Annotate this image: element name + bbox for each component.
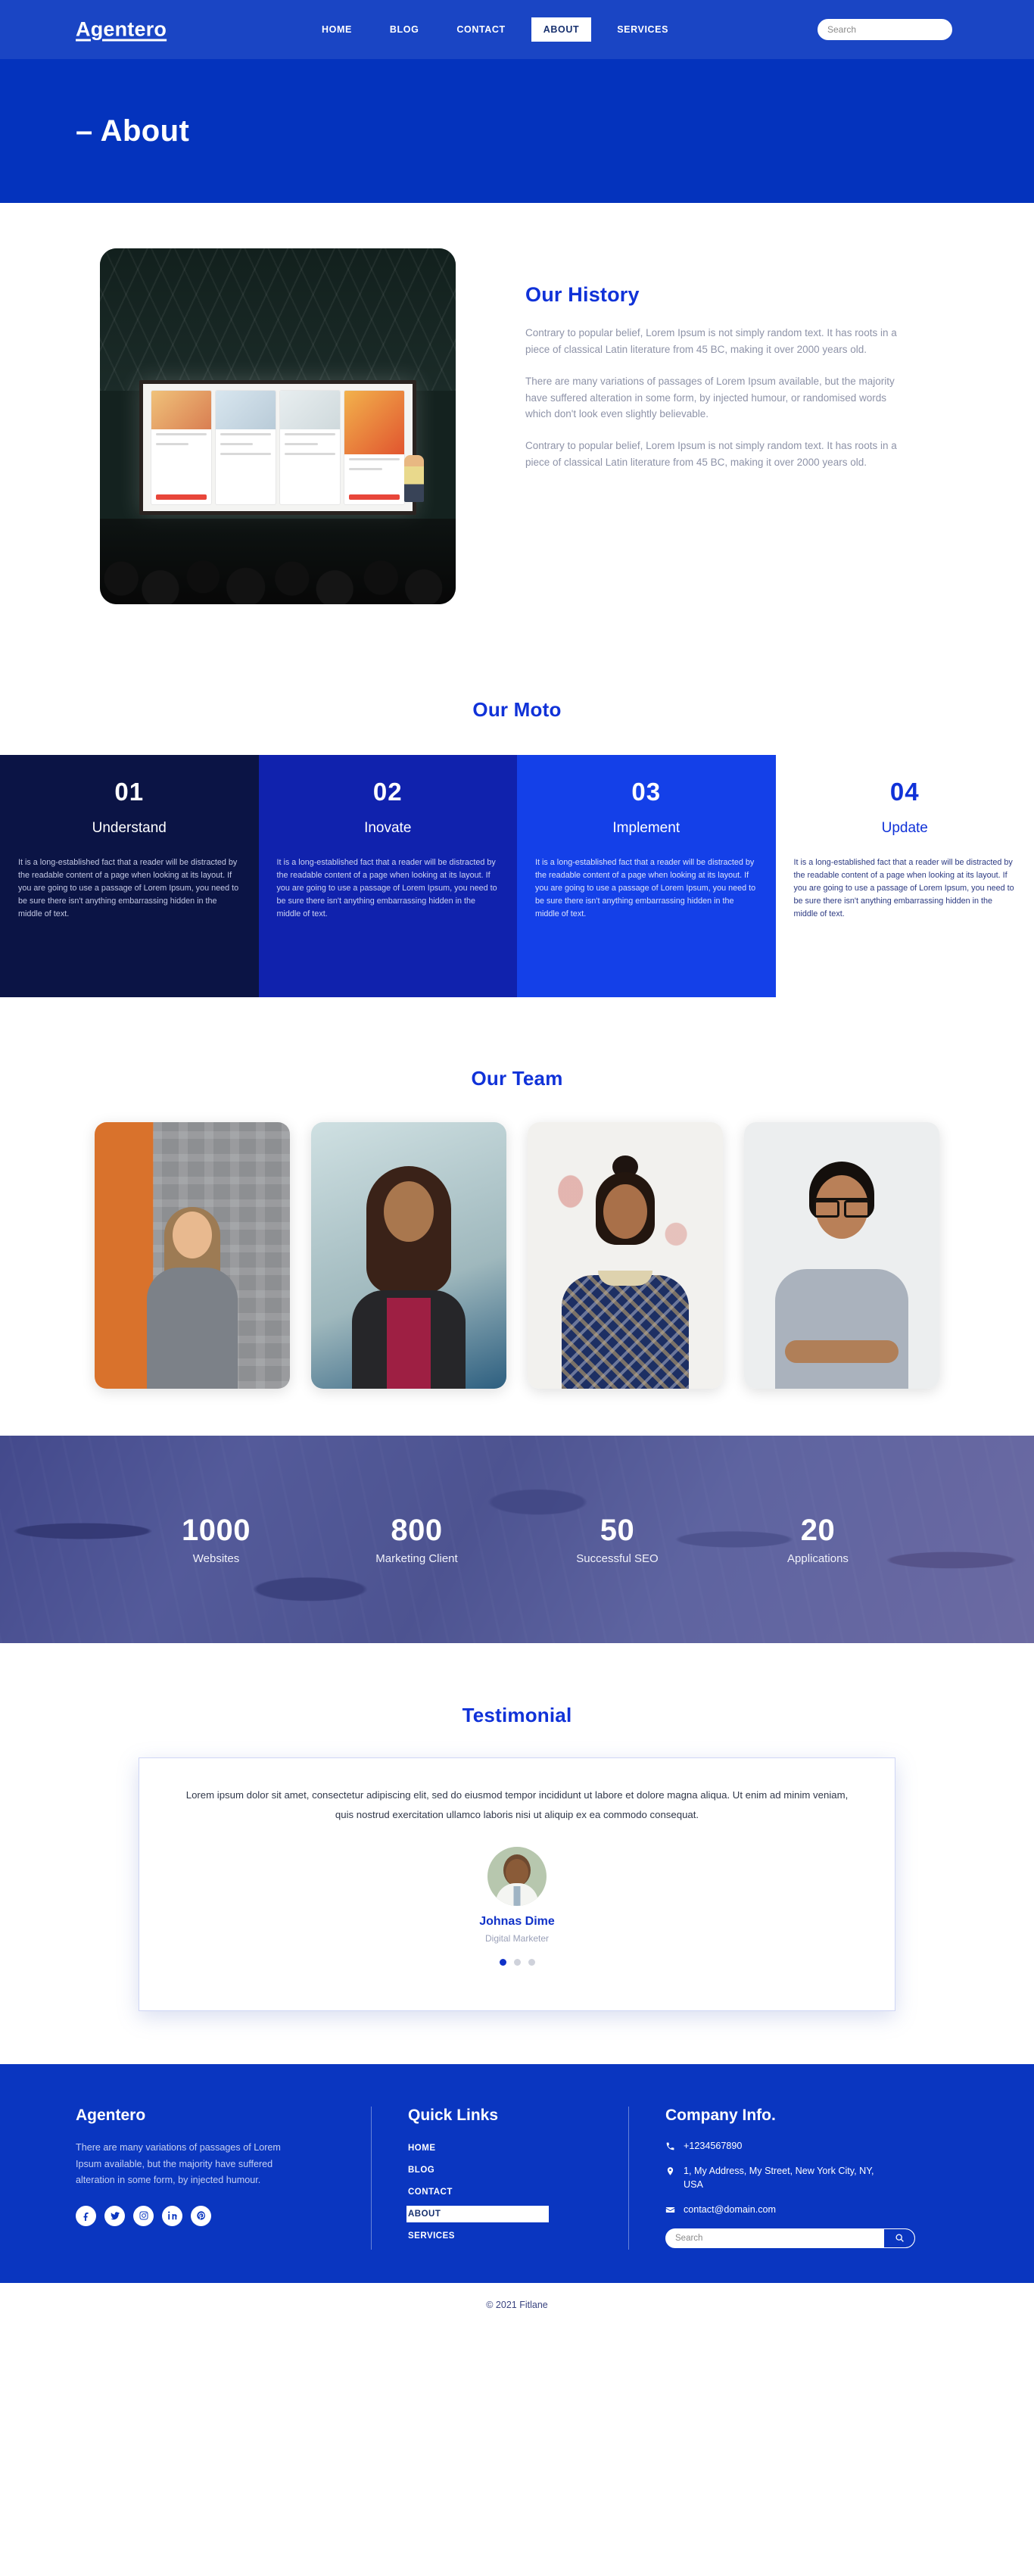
team-member-photo	[528, 1122, 723, 1389]
history-image	[100, 248, 456, 604]
team-member-card[interactable]	[744, 1122, 939, 1389]
avatar	[487, 1847, 547, 1906]
footer-company-column: Company Info. +1234567890 1, My Address,…	[628, 2107, 958, 2250]
quicklinks-title: Quick Links	[408, 2107, 628, 2125]
stat-label: Marketing Client	[316, 1552, 517, 1565]
quicklinks-list: HOME BLOG CONTACT ABOUT SERVICES	[408, 2140, 628, 2244]
address-text: 1, My Address, My Street, New York City,…	[684, 2165, 880, 2192]
moto-number: 01	[18, 778, 241, 806]
stat-value: 1000	[116, 1514, 316, 1547]
brand-logo[interactable]: Agentero	[76, 18, 167, 42]
footer-link-services[interactable]: SERVICES	[408, 2228, 628, 2244]
history-paragraph-3: Contrary to popular belief, Lorem Ipsum …	[525, 438, 904, 471]
phone-text: +1234567890	[684, 2140, 742, 2153]
social-links	[76, 2206, 335, 2226]
ceiling-truss-decoration	[100, 248, 456, 391]
team-member-card[interactable]	[528, 1122, 723, 1389]
stat-label: Websites	[116, 1552, 316, 1565]
linkedin-icon	[167, 2210, 178, 2221]
history-paragraph-1: Contrary to popular belief, Lorem Ipsum …	[525, 325, 904, 358]
company-info-title: Company Info.	[665, 2107, 958, 2125]
envelope-icon	[665, 2205, 675, 2215]
testimonial-quote: Lorem ipsum dolor sit amet, consectetur …	[177, 1785, 857, 1826]
carousel-dots	[177, 1959, 857, 1966]
header-search	[818, 19, 952, 40]
moto-number: 04	[794, 778, 1017, 806]
history-section: Our History Contrary to popular belief, …	[0, 203, 1034, 688]
footer-link-about[interactable]: ABOUT	[406, 2206, 549, 2222]
stat-label: Applications	[718, 1552, 918, 1565]
history-copy: Our History Contrary to popular belief, …	[456, 248, 958, 486]
team-section: Our Team	[0, 997, 1034, 1389]
history-paragraph-2: There are many variations of passages of…	[525, 373, 904, 423]
carousel-dot-2[interactable]	[514, 1959, 521, 1966]
copyright-bar: © 2021 Fitlane	[0, 2283, 1034, 2330]
site-footer: Agentero There are many variations of pa…	[0, 2064, 1034, 2283]
company-email[interactable]: contact@domain.com	[665, 2203, 958, 2217]
footer-link-blog[interactable]: BLOG	[408, 2162, 628, 2178]
instagram-link[interactable]	[133, 2206, 154, 2226]
stat-value: 50	[517, 1514, 718, 1547]
primary-nav: HOME BLOG CONTACT ABOUT SERVICES	[303, 0, 687, 59]
team-card-list	[0, 1122, 1034, 1389]
team-member-card[interactable]	[311, 1122, 506, 1389]
nav-item-services[interactable]: SERVICES	[605, 17, 681, 42]
location-pin-icon	[665, 2166, 675, 2176]
history-heading: Our History	[525, 283, 952, 307]
testimonial-section: Testimonial Lorem ipsum dolor sit amet, …	[0, 1643, 1034, 2064]
footer-link-home[interactable]: HOME	[408, 2140, 628, 2157]
facebook-icon	[81, 2210, 92, 2221]
stat-label: Successful SEO	[517, 1552, 718, 1565]
stats-banner: 1000 Websites 800 Marketing Client 50 Su…	[0, 1436, 1034, 1643]
pinterest-icon	[196, 2210, 207, 2221]
footer-about-column: Agentero There are many variations of pa…	[76, 2107, 371, 2250]
presentation-screen	[139, 380, 417, 516]
company-address: 1, My Address, My Street, New York City,…	[665, 2165, 958, 2192]
speaker-figure	[404, 455, 424, 502]
stat-item: 50 Successful SEO	[517, 1514, 718, 1565]
moto-title: Understand	[18, 820, 241, 837]
twitter-link[interactable]	[104, 2206, 125, 2226]
team-member-photo	[311, 1122, 506, 1389]
page-hero: – About	[0, 59, 1034, 203]
team-member-photo	[95, 1122, 290, 1389]
nav-item-about[interactable]: ABOUT	[531, 17, 591, 42]
stat-value: 800	[316, 1514, 517, 1547]
team-heading: Our Team	[0, 1067, 1034, 1090]
search-icon	[895, 2233, 905, 2243]
footer-search	[665, 2228, 915, 2248]
moto-body: It is a long-established fact that a rea…	[535, 856, 758, 921]
footer-about-text: There are many variations of passages of…	[76, 2140, 303, 2189]
nav-item-home[interactable]: HOME	[310, 17, 364, 42]
testimonial-card: Lorem ipsum dolor sit amet, consectetur …	[139, 1757, 895, 2011]
company-phone[interactable]: +1234567890	[665, 2140, 958, 2153]
team-member-card[interactable]	[95, 1122, 290, 1389]
moto-card[interactable]: 03 Implement It is a long-established fa…	[517, 755, 776, 997]
nav-item-blog[interactable]: BLOG	[378, 17, 431, 42]
twitter-icon	[110, 2210, 120, 2221]
team-member-photo	[744, 1122, 939, 1389]
page-title: – About	[76, 114, 189, 148]
stat-item: 20 Applications	[718, 1514, 918, 1565]
moto-title: Implement	[535, 820, 758, 837]
footer-search-input[interactable]	[666, 2229, 884, 2247]
audience-crowd	[100, 519, 456, 604]
stat-item: 800 Marketing Client	[316, 1514, 517, 1565]
footer-brand: Agentero	[76, 2107, 335, 2125]
moto-body: It is a long-established fact that a rea…	[18, 856, 241, 921]
footer-link-contact[interactable]: CONTACT	[408, 2184, 628, 2200]
footer-quicklinks-column: Quick Links HOME BLOG CONTACT ABOUT SERV…	[371, 2107, 628, 2250]
carousel-dot-1[interactable]	[500, 1959, 506, 1966]
stat-value: 20	[718, 1514, 918, 1547]
top-navbar: Agentero HOME BLOG CONTACT ABOUT SERVICE…	[0, 0, 1034, 59]
moto-body: It is a long-established fact that a rea…	[277, 856, 500, 921]
moto-heading: Our Moto	[0, 698, 1034, 722]
carousel-dot-3[interactable]	[528, 1959, 535, 1966]
moto-number: 02	[277, 778, 500, 806]
linkedin-link[interactable]	[162, 2206, 182, 2226]
search-input[interactable]	[818, 20, 952, 39]
moto-title: Update	[794, 820, 1017, 837]
testimonial-author-name: Johnas Dime	[177, 1915, 857, 1929]
moto-card[interactable]: 02 Inovate It is a long-established fact…	[259, 755, 518, 997]
facebook-link[interactable]	[76, 2206, 96, 2226]
company-info-list: +1234567890 1, My Address, My Street, Ne…	[665, 2140, 958, 2217]
testimonial-author-role: Digital Marketer	[177, 1933, 857, 1944]
moto-card-list: 01 Understand It is a long-established f…	[0, 755, 1034, 997]
moto-number: 03	[535, 778, 758, 806]
phone-icon	[665, 2141, 675, 2151]
testimonial-heading: Testimonial	[0, 1704, 1034, 1727]
moto-body: It is a long-established fact that a rea…	[794, 856, 1017, 921]
about-page: Agentero HOME BLOG CONTACT ABOUT SERVICE…	[0, 0, 1034, 2576]
instagram-icon	[139, 2210, 149, 2221]
footer-search-button[interactable]	[884, 2229, 914, 2247]
pinterest-link[interactable]	[191, 2206, 211, 2226]
moto-card[interactable]: 01 Understand It is a long-established f…	[0, 755, 259, 997]
nav-item-contact[interactable]: CONTACT	[444, 17, 517, 42]
moto-card[interactable]: 04 Update It is a long-established fact …	[776, 755, 1034, 997]
stat-item: 1000 Websites	[116, 1514, 316, 1565]
moto-title: Inovate	[277, 820, 500, 837]
email-text: contact@domain.com	[684, 2203, 776, 2217]
moto-section: Our Moto 01 Understand It is a long-esta…	[0, 688, 1034, 997]
